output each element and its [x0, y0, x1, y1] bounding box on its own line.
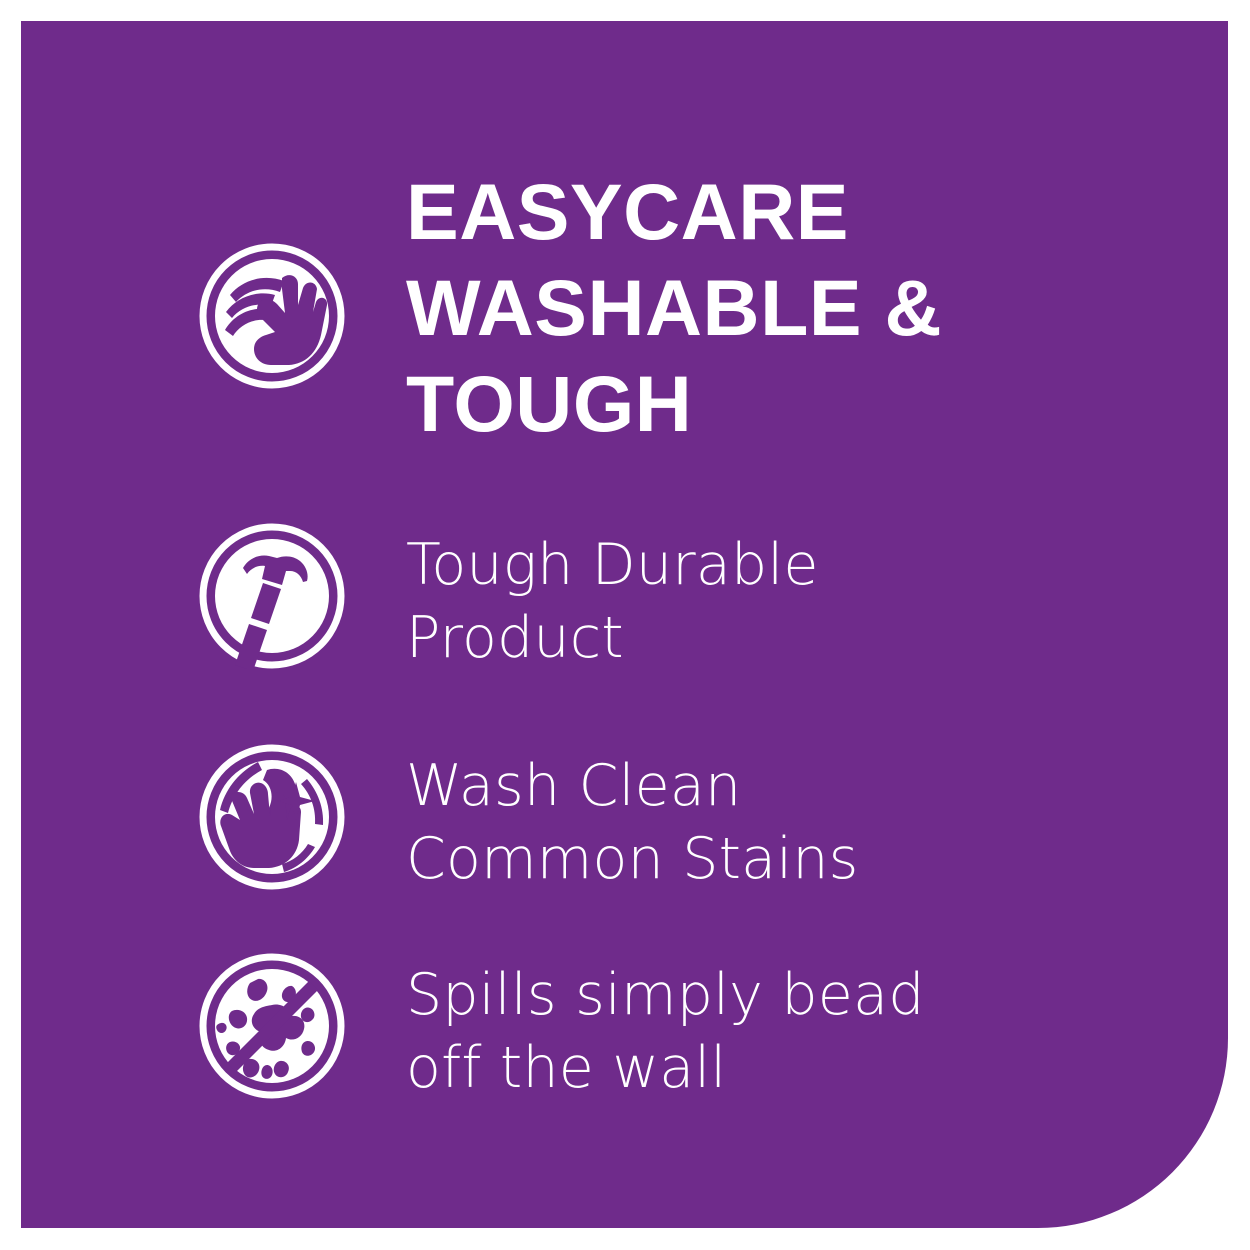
hammer-icon — [199, 523, 345, 669]
page-title: EASYCARE WASHABLE & TOUGH — [406, 164, 1106, 452]
feature-label-tough-durable: Tough Durable Product — [406, 529, 819, 675]
no-splash-icon — [199, 953, 345, 1099]
feature-label-spills-bead: Spills simply bead off the wall — [406, 959, 925, 1105]
feature-panel: EASYCARE WASHABLE & TOUGH Tough Durable … — [21, 21, 1228, 1228]
hand-wipe-sparkle-icon — [199, 744, 345, 890]
feature-label-wash-clean: Wash Clean Common Stains — [406, 750, 859, 896]
washing-hands-icon — [199, 243, 345, 389]
